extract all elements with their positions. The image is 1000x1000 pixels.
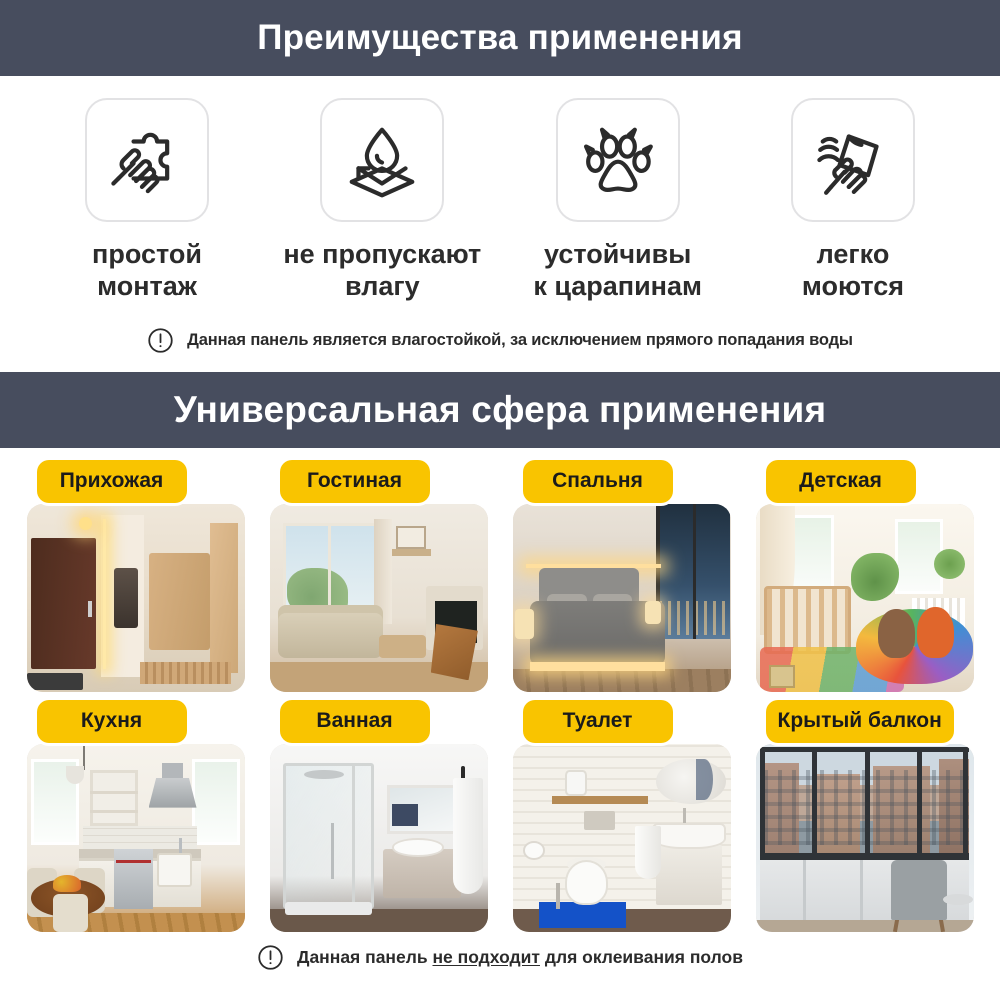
applications-note-text: Данная панель не подходит для оклеивания… xyxy=(297,947,743,968)
water-drop-layers-icon xyxy=(340,118,424,202)
benefit-label: простой монтаж xyxy=(92,239,202,303)
applications-heading: Универсальная сфера применения xyxy=(174,389,827,431)
infographic-page: Преимущества применения простой монтаж xyxy=(0,0,1000,1000)
applications-note: Данная панель не подходит для оклеивания… xyxy=(0,944,1000,971)
room-photo-bedroom xyxy=(513,504,731,692)
room-tag-toilet[interactable]: Туалет xyxy=(523,700,673,743)
note-text-before: Данная панель xyxy=(297,947,433,967)
room-card-hallway[interactable]: Прихожая xyxy=(27,460,245,692)
room-tag-bedroom[interactable]: Спальня xyxy=(523,460,673,503)
benefit-icon-box xyxy=(791,98,915,222)
benefit-item-scratch-resistant: устойчивы к царапинам xyxy=(509,98,727,303)
note-text-after: для оклеивания полов xyxy=(540,947,743,967)
benefit-item-waterproof: не пропускают влагу xyxy=(273,98,491,303)
benefits-heading: Преимущества применения xyxy=(257,18,742,58)
room-card-nursery[interactable]: Детская xyxy=(756,460,974,692)
hand-puzzle-icon xyxy=(105,118,189,202)
benefit-icon-box xyxy=(85,98,209,222)
room-tag-balcony[interactable]: Крытый балкон xyxy=(766,700,954,743)
benefit-icon-box xyxy=(556,98,680,222)
room-tag-kitchen[interactable]: Кухня xyxy=(37,700,187,743)
paw-print-icon xyxy=(576,118,660,202)
room-photo-bathroom xyxy=(270,744,488,932)
benefit-label: легко моются xyxy=(802,239,904,303)
hand-wiping-cloth-icon xyxy=(811,118,895,202)
room-card-balcony[interactable]: Крытый балкон xyxy=(756,700,974,932)
benefit-item-easy-clean: легко моются xyxy=(744,98,962,303)
benefit-item-easy-install: простой монтаж xyxy=(38,98,256,303)
benefits-row: простой монтаж не пропускают влагу xyxy=(0,76,1000,303)
benefit-icon-box xyxy=(320,98,444,222)
benefit-label: не пропускают влагу xyxy=(283,239,481,303)
benefits-note: Данная панель является влагостойкой, за … xyxy=(0,327,1000,354)
room-card-living-room[interactable]: Гостиная xyxy=(270,460,488,692)
rooms-grid: Прихожая Гостиная xyxy=(0,448,1000,932)
applications-header-bar: Универсальная сфера применения xyxy=(0,372,1000,448)
room-photo-balcony xyxy=(756,744,974,932)
room-tag-hallway[interactable]: Прихожая xyxy=(37,460,187,503)
room-photo-nursery xyxy=(756,504,974,692)
benefits-note-text: Данная панель является влагостойкой, за … xyxy=(187,331,853,350)
room-card-bedroom[interactable]: Спальня xyxy=(513,460,731,692)
room-tag-bathroom[interactable]: Ванная xyxy=(280,700,430,743)
room-card-kitchen[interactable]: Кухня xyxy=(27,700,245,932)
room-card-bathroom[interactable]: Ванная xyxy=(270,700,488,932)
room-photo-toilet xyxy=(513,744,731,932)
room-photo-kitchen xyxy=(27,744,245,932)
room-tag-nursery[interactable]: Детская xyxy=(766,460,916,503)
benefits-header-bar: Преимущества применения xyxy=(0,0,1000,76)
room-photo-hallway xyxy=(27,504,245,692)
room-card-toilet[interactable]: Туалет xyxy=(513,700,731,932)
exclamation-circle-icon xyxy=(147,327,174,354)
benefit-label: устойчивы к царапинам xyxy=(533,239,702,303)
note-text-underlined: не подходит xyxy=(432,947,540,967)
room-photo-living-room xyxy=(270,504,488,692)
exclamation-circle-icon xyxy=(257,944,284,971)
room-tag-living-room[interactable]: Гостиная xyxy=(280,460,430,503)
